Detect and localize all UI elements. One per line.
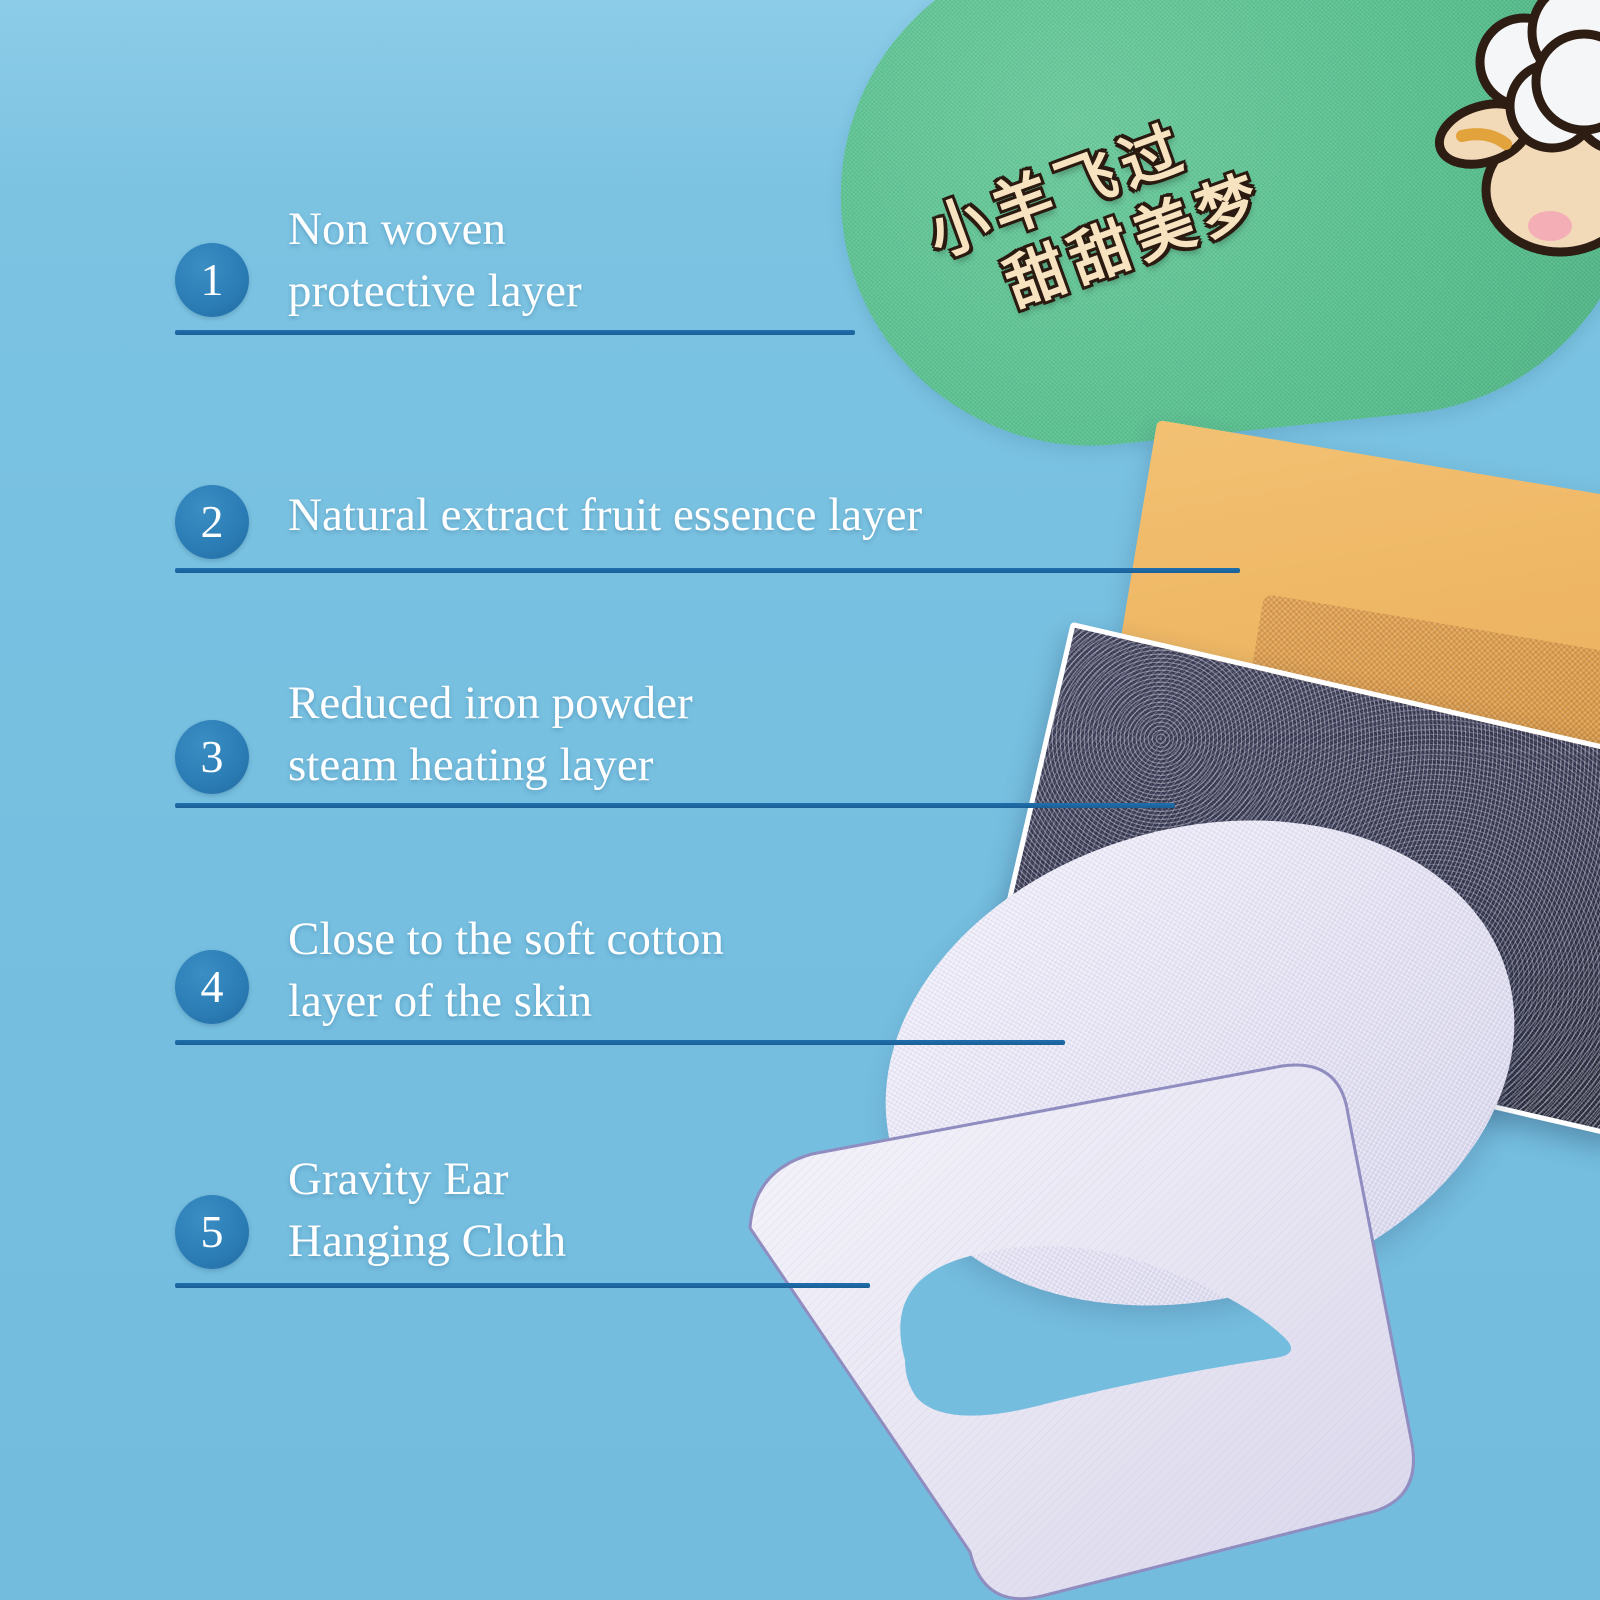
- layer-number-badge-2: 2: [175, 485, 249, 559]
- layer-label-1: Non woven protective layer: [288, 198, 582, 322]
- layer-number-badge-3: 3: [175, 720, 249, 794]
- leader-line-4: [175, 1040, 1065, 1045]
- layer-number-badge-4: 4: [175, 950, 249, 1024]
- layer-label-4: Close to the soft cotton layer of the sk…: [288, 908, 724, 1032]
- leader-line-5: [175, 1283, 870, 1288]
- ear-hanging-cloth-photo: [690, 1060, 1470, 1600]
- sheep-character-icon: [1432, 0, 1600, 298]
- leader-line-2: [175, 568, 1240, 573]
- layer-label-3: Reduced iron powder steam heating layer: [288, 672, 693, 796]
- leader-line-1: [175, 330, 855, 335]
- leader-line-3: [175, 803, 1175, 808]
- layer-number-badge-5: 5: [175, 1195, 249, 1269]
- layer-label-2: Natural extract fruit essence layer: [288, 484, 922, 546]
- infographic-canvas: 小羊飞过 甜甜美梦: [0, 0, 1600, 1600]
- layer-label-5: Gravity Ear Hanging Cloth: [288, 1148, 566, 1272]
- layer-number-badge-1: 1: [175, 243, 249, 317]
